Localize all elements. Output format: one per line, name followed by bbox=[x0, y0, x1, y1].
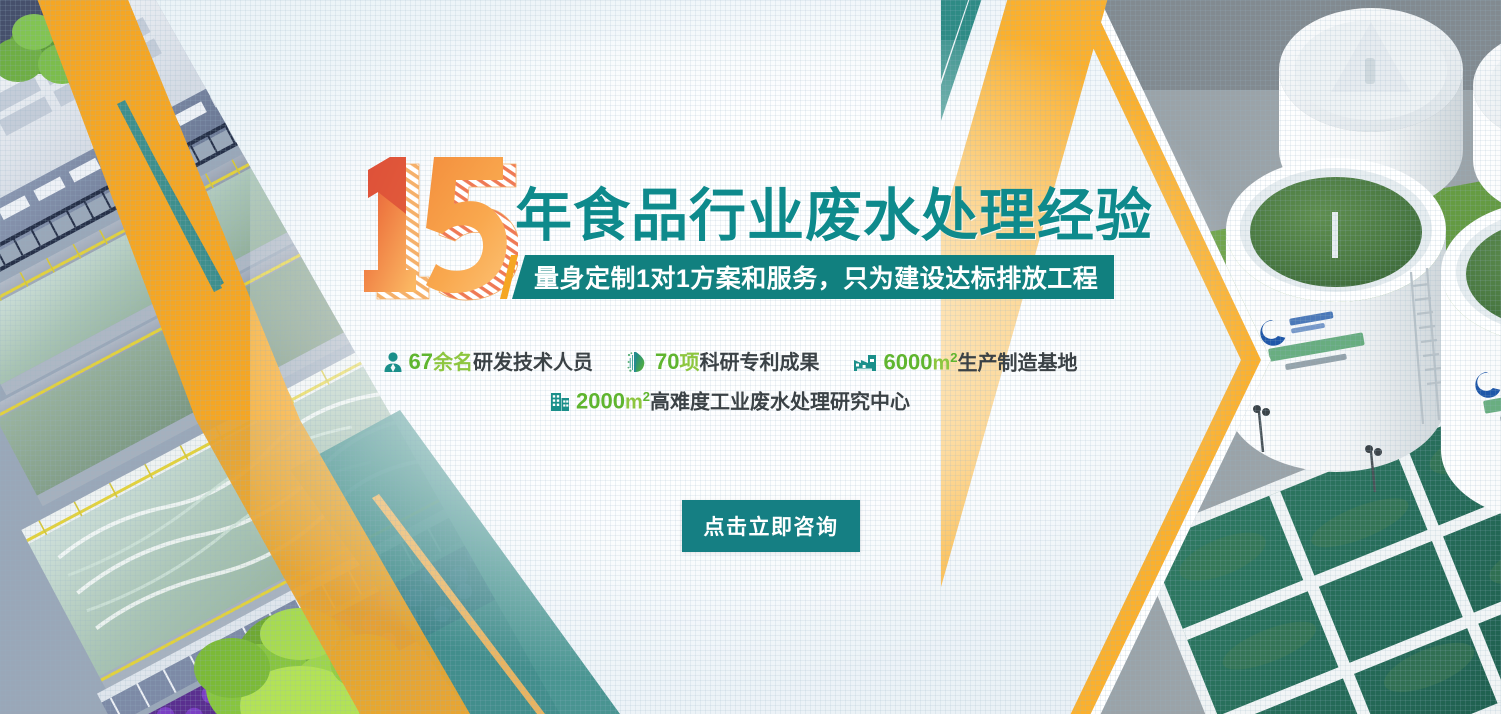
digit-five bbox=[426, 157, 507, 293]
stats-row-1: 67余名研发技术人员 bbox=[330, 350, 1130, 374]
years-number bbox=[338, 152, 518, 302]
hero-banner: 年食品行业废水处理经验 量身定制1对1方案和服务，只为建设达标排放工程 bbox=[0, 0, 1501, 714]
stat-desc: 高难度工业废水处理研究中心 bbox=[650, 392, 910, 414]
stat-number: 2000 bbox=[576, 389, 625, 414]
stat-unit: 项 bbox=[679, 352, 699, 374]
subtitle-band: 量身定制1对1方案和服务，只为建设达标排放工程 bbox=[512, 255, 1114, 299]
stat-item: 67余名研发技术人员 bbox=[383, 351, 593, 373]
stat-desc: 科研专利成果 bbox=[699, 352, 819, 374]
stat-item: 70项科研专利成果 bbox=[627, 350, 819, 374]
stat-number: 6000 bbox=[883, 349, 932, 374]
factory-icon bbox=[853, 352, 877, 372]
stat-number: 70 bbox=[655, 349, 679, 374]
user-icon bbox=[383, 351, 403, 373]
page-title: 年食品行业废水处理经验 bbox=[515, 170, 1153, 252]
consult-now-button[interactable]: 点击立即咨询 bbox=[682, 500, 860, 552]
stat-unit: m bbox=[625, 392, 643, 414]
stat-number: 67 bbox=[409, 349, 433, 374]
tank-open-green-1 bbox=[1226, 158, 1446, 472]
stats-block: 67余名研发技术人员 bbox=[330, 350, 1130, 413]
stats-row-2: 2000m2高难度工业废水处理研究中心 bbox=[330, 390, 1130, 413]
stat-desc: 生产制造基地 bbox=[957, 352, 1077, 374]
stat-item: 2000m2高难度工业废水处理研究中心 bbox=[550, 390, 910, 413]
banner-content: 年食品行业废水处理经验 量身定制1对1方案和服务，只为建设达标排放工程 bbox=[330, 0, 1130, 714]
patent-leaf-icon bbox=[627, 350, 649, 374]
stat-superscript: 2 bbox=[643, 389, 650, 404]
building-icon bbox=[550, 390, 570, 412]
stat-item: 6000m2生产制造基地 bbox=[853, 351, 1077, 374]
subtitle-text: 量身定制1对1方案和服务，只为建设达标排放工程 bbox=[534, 259, 1098, 295]
stat-unit: m bbox=[932, 352, 950, 374]
stat-desc: 研发技术人员 bbox=[473, 352, 593, 374]
tank-open-green-2 bbox=[1441, 200, 1501, 522]
stat-unit: 余名 bbox=[433, 352, 473, 374]
